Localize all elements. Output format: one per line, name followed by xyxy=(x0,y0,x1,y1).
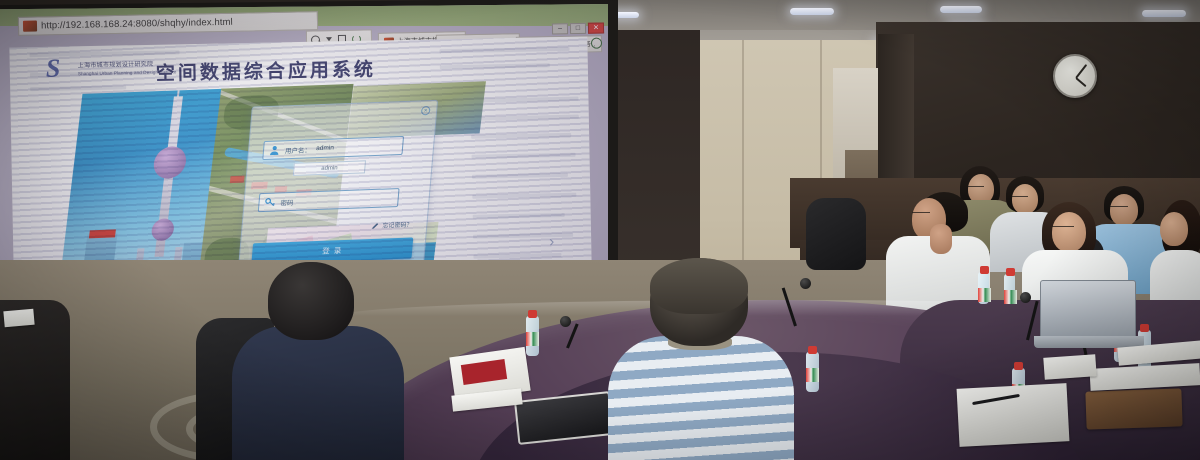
microphone-head xyxy=(560,316,571,327)
attendee-front-left-body xyxy=(232,326,404,460)
attendee-front-left-head xyxy=(268,262,354,340)
user-icon xyxy=(269,144,281,155)
page-title: 空间数据综合应用系统 xyxy=(156,55,376,86)
carousel-next-icon[interactable]: › xyxy=(549,233,555,250)
minimize-button[interactable]: – xyxy=(552,23,568,34)
attendee-white-shirt-hand xyxy=(930,224,952,254)
username-value: admin xyxy=(316,144,334,152)
screenshot-root: http://192.168.168.24:8080/shqhy/index.h… xyxy=(0,0,1200,460)
water-bottle[interactable] xyxy=(526,316,539,356)
logo-mark: S xyxy=(46,56,70,82)
login-panel[interactable]: × 用户名： admin admin xyxy=(236,100,438,287)
laptop-screen[interactable] xyxy=(1040,280,1136,338)
ceiling-light xyxy=(790,8,834,15)
notebook[interactable] xyxy=(957,383,1070,447)
tower-upper-sphere xyxy=(152,146,188,179)
password-field[interactable]: 密码 xyxy=(258,188,400,212)
username-autocomplete-suggestion[interactable]: admin xyxy=(293,160,366,176)
window-controls[interactable]: – □ ✕ xyxy=(552,23,604,35)
username-label: 用户名： xyxy=(285,144,312,155)
water-bottle[interactable] xyxy=(1004,274,1015,304)
close-button[interactable]: ✕ xyxy=(588,23,604,34)
document[interactable] xyxy=(3,309,34,328)
attendee-right-edge-head xyxy=(1160,212,1188,246)
bottle-label xyxy=(978,288,991,302)
pencil-icon xyxy=(371,221,380,229)
settings-gear-icon[interactable] xyxy=(591,38,602,49)
maximize-button[interactable]: □ xyxy=(570,23,586,34)
attendee-blue-shirt-head xyxy=(1110,194,1138,226)
building-red-sign xyxy=(89,229,116,238)
attendee-light-shirt-glasses xyxy=(1012,196,1028,200)
microphone-head xyxy=(1020,292,1031,303)
attendee-olive-top-glasses xyxy=(968,186,984,190)
ceiling-light xyxy=(940,6,982,13)
key-icon xyxy=(264,197,276,208)
attendee-blue-shirt-glasses xyxy=(1110,206,1128,210)
close-icon[interactable]: × xyxy=(421,106,431,115)
bottle-label xyxy=(1004,290,1017,304)
water-bottle[interactable] xyxy=(806,352,819,392)
microphone-head xyxy=(800,278,811,289)
attendee-speaker-glasses xyxy=(1052,226,1074,230)
office-chair xyxy=(806,198,866,270)
attendee-front-right-hair xyxy=(650,258,748,314)
ceiling-light xyxy=(1142,10,1186,17)
attendee-front-right-body xyxy=(608,336,794,460)
tower-lower-sphere xyxy=(150,218,175,241)
forgot-password-label: 忘记密码？ xyxy=(382,219,413,229)
password-label: 密码 xyxy=(280,196,294,206)
water-bottle[interactable] xyxy=(978,272,989,304)
aerial-rooftop xyxy=(230,176,245,184)
leather-folder[interactable] xyxy=(1085,388,1182,429)
document[interactable] xyxy=(1043,354,1096,380)
username-field[interactable]: 用户名： admin xyxy=(262,136,404,160)
wall-clock xyxy=(1053,54,1097,98)
bottle-label xyxy=(526,332,539,346)
bottle-label xyxy=(806,368,819,382)
attendee-speaker-head xyxy=(1052,212,1086,252)
attendee-white-shirt-glasses xyxy=(912,212,930,216)
forgot-password-link[interactable]: 忘记密码？ xyxy=(371,219,413,230)
address-bar-url: http://192.168.168.24:8080/shqhy/index.h… xyxy=(41,17,233,32)
site-favicon-icon xyxy=(23,21,37,32)
